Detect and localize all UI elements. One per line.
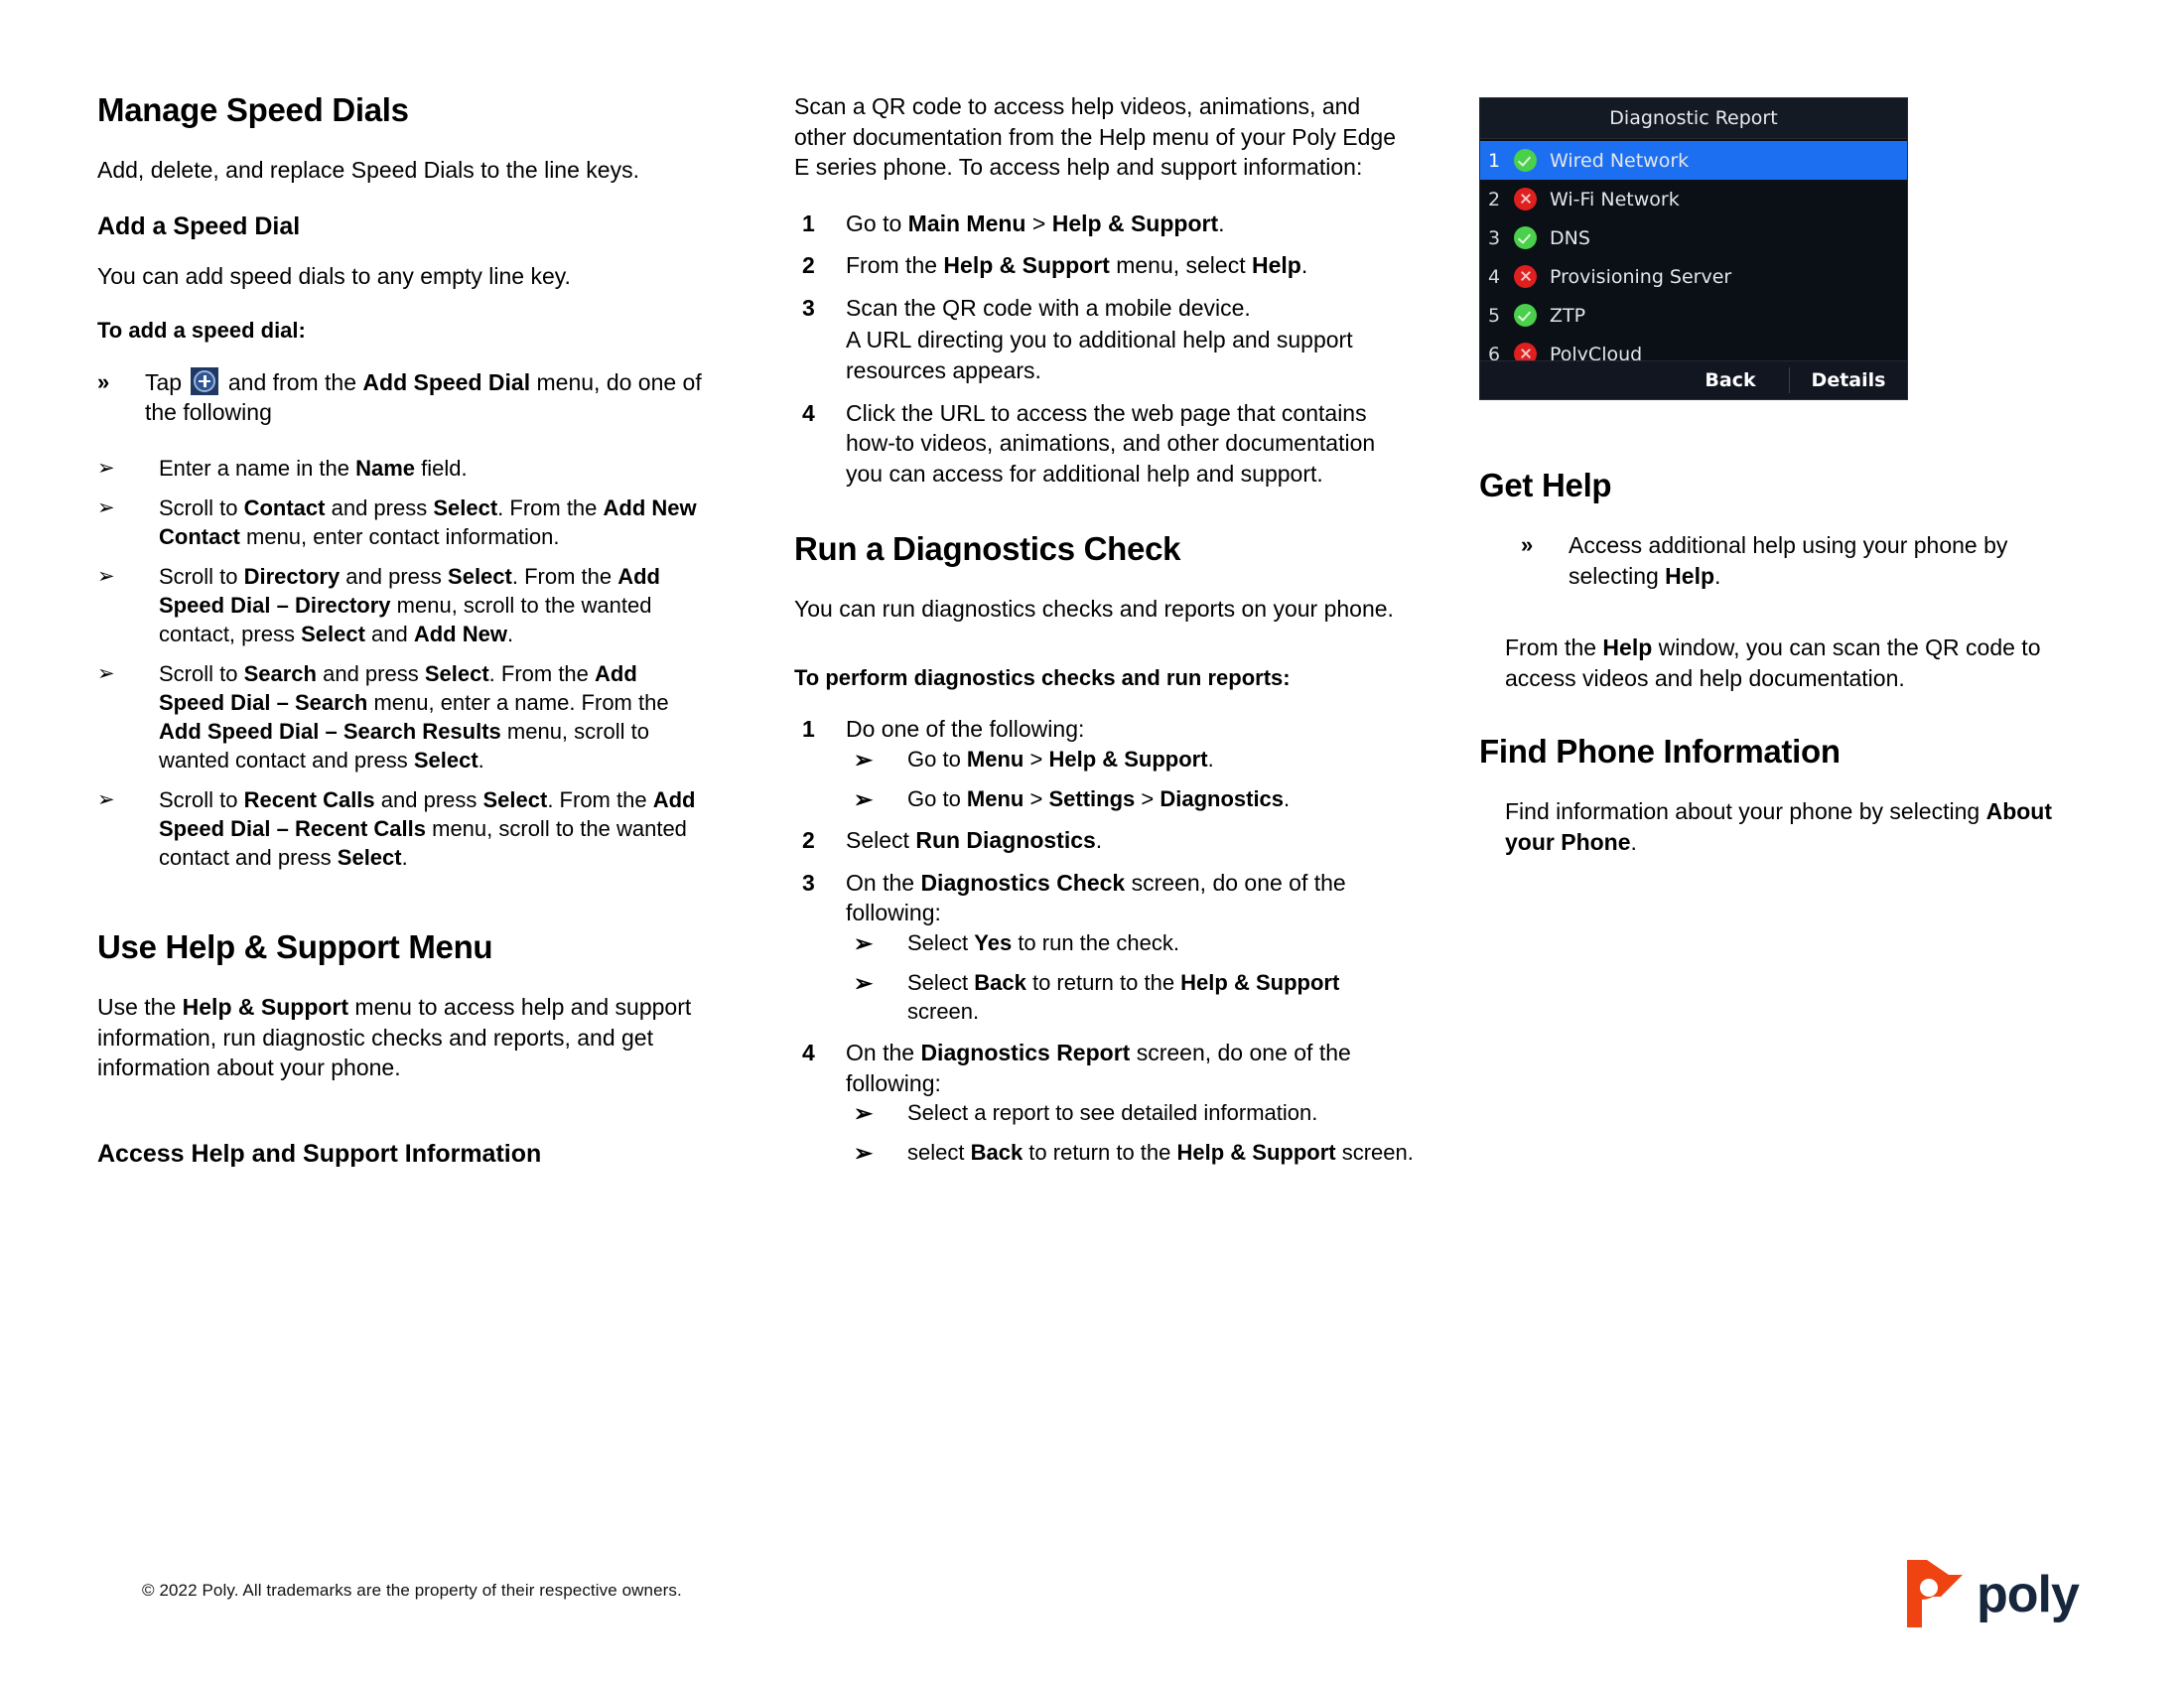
list-item-text: Select Back to return to the Help & Supp…: [907, 970, 1339, 1024]
softkey-details[interactable]: Details: [1790, 369, 1907, 391]
diagnostic-report-row[interactable]: 1Wired Network: [1480, 141, 1907, 180]
row-index: 1: [1488, 150, 1514, 172]
list-item: ➢Scroll to Directory and press Select. F…: [97, 562, 703, 648]
status-pass-icon: [1514, 304, 1537, 327]
list-item-text: Select Yes to run the check.: [907, 930, 1179, 955]
row-label: Wi-Fi Network: [1550, 189, 1680, 211]
column-one: Manage Speed Dials Add, delete, and repl…: [97, 91, 703, 1189]
add-speed-dial-options-list: ➢Enter a name in the Name field.➢Scroll …: [97, 454, 703, 872]
step-text: On the Diagnostics Check screen, do one …: [846, 870, 1346, 926]
arrow-bullet-icon: ➢: [854, 928, 873, 958]
step-number: 1: [802, 209, 815, 239]
list-item-text: Scroll to Recent Calls and press Select.…: [159, 787, 695, 870]
row-index: 2: [1488, 189, 1514, 211]
phone-softkey-bar: Back Details: [1480, 360, 1907, 399]
list-item: 1Go to Main Menu > Help & Support.: [794, 209, 1415, 239]
row-index: 4: [1488, 266, 1514, 288]
find-phone-information-heading: Find Phone Information: [1479, 733, 2100, 771]
svg-text:poly: poly: [1977, 1566, 2080, 1623]
arrow-bullet-icon: ➢: [97, 660, 115, 688]
list-item-text: Go to Menu > Help & Support.: [907, 747, 1214, 772]
diagnostic-report-row[interactable]: 3DNS: [1480, 218, 1907, 257]
tap-instruction-text: Tap and from the Add Speed Dial menu, do…: [145, 369, 702, 426]
list-item-text: select Back to return to the Help & Supp…: [907, 1140, 1414, 1165]
diagnostic-report-row[interactable]: 2Wi-Fi Network: [1480, 180, 1907, 218]
list-item-text: Scroll to Contact and press Select. From…: [159, 495, 697, 549]
row-label: DNS: [1550, 227, 1590, 249]
diagnostic-report-row[interactable]: 5ZTP: [1480, 296, 1907, 335]
list-item: ➢Select Yes to run the check.: [846, 928, 1415, 957]
step-number: 3: [802, 868, 815, 899]
list-item-text: Scroll to Directory and press Select. Fr…: [159, 564, 660, 646]
step-text: Go to Main Menu > Help & Support.: [846, 211, 1225, 236]
page-title: Manage Speed Dials: [97, 91, 703, 129]
qr-scan-intro: Scan a QR code to access help videos, an…: [794, 91, 1415, 183]
list-item: » Tap and from the Add Speed Dial menu, …: [97, 367, 703, 428]
arrow-bullet-icon: ➢: [854, 1098, 873, 1128]
list-item-text: Go to Menu > Settings > Diagnostics.: [907, 786, 1290, 811]
column-two: Scan a QR code to access help videos, an…: [794, 91, 1415, 1179]
step-number: 1: [802, 714, 815, 745]
step-number: 3: [802, 293, 815, 324]
list-item: 4Click the URL to access the web page th…: [794, 398, 1415, 490]
step-sublist: ➢Select a report to see detailed informa…: [846, 1098, 1415, 1167]
row-index: 3: [1488, 227, 1514, 249]
arrow-bullet-icon: ➢: [97, 786, 115, 814]
step-text: From the Help & Support menu, select Hel…: [846, 252, 1307, 278]
copyright-notice: © 2022 Poly. All trademarks are the prop…: [142, 1581, 682, 1601]
list-item: ➢select Back to return to the Help & Sup…: [846, 1138, 1415, 1167]
step-text: Select Run Diagnostics.: [846, 827, 1102, 853]
list-item: ➢Go to Menu > Settings > Diagnostics.: [846, 784, 1415, 813]
list-item: ➢Select a report to see detailed informa…: [846, 1098, 1415, 1127]
access-help-steps-list: 1Go to Main Menu > Help & Support.2From …: [794, 209, 1415, 490]
list-item: ➢Select Back to return to the Help & Sup…: [846, 968, 1415, 1026]
row-label: Provisioning Server: [1550, 266, 1731, 288]
status-fail-icon: [1514, 188, 1537, 211]
get-help-heading: Get Help: [1479, 467, 2100, 504]
diagnostics-intro: You can run diagnostics checks and repor…: [794, 594, 1415, 625]
arrow-bullet-icon: ➢: [854, 968, 873, 998]
page-canvas: Manage Speed Dials Add, delete, and repl…: [0, 0, 2184, 1688]
to-add-speed-dial-heading: To add a speed dial:: [97, 317, 703, 346]
status-fail-icon: [1514, 265, 1537, 288]
diagnostic-report-row[interactable]: 4Provisioning Server: [1480, 257, 1907, 296]
step-sublist: ➢Select Yes to run the check.➢Select Bac…: [846, 928, 1415, 1026]
row-label: Wired Network: [1550, 150, 1689, 172]
arrow-bullet-icon: ➢: [97, 455, 115, 483]
use-help-support-menu-heading: Use Help & Support Menu: [97, 928, 703, 966]
list-item: ➢Scroll to Contact and press Select. Fro…: [97, 493, 703, 551]
arrow-bullet-icon: ➢: [97, 563, 115, 591]
softkey-back[interactable]: Back: [1672, 369, 1789, 391]
list-item: ➢Scroll to Search and press Select. From…: [97, 659, 703, 774]
add-speed-dial-heading: Add a Speed Dial: [97, 211, 703, 241]
arrow-bullet-icon: ➢: [854, 784, 873, 814]
get-help-bullet-text: Access additional help using your phone …: [1569, 532, 2007, 589]
get-help-body: From the Help window, you can scan the Q…: [1505, 633, 2100, 693]
step-text: Scan the QR code with a mobile device.: [846, 295, 1251, 321]
list-item: » Access additional help using your phon…: [1521, 530, 2100, 591]
step-number: 4: [802, 1038, 815, 1068]
list-item: 3Scan the QR code with a mobile device.A…: [794, 293, 1415, 386]
step-continuation: A URL directing you to additional help a…: [846, 325, 1415, 385]
row-label: ZTP: [1550, 305, 1585, 327]
list-item: 2 Select Run Diagnostics.: [794, 825, 1415, 856]
list-item: ➢Enter a name in the Name field.: [97, 454, 703, 483]
diagnostics-steps-list: 1Do one of the following:➢Go to Menu > H…: [794, 714, 1415, 1167]
column-three: Get Help » Access additional help using …: [1479, 467, 2100, 883]
status-pass-icon: [1514, 149, 1537, 172]
get-help-bullet-list: » Access additional help using your phon…: [1521, 530, 2100, 591]
list-item-text: Scroll to Search and press Select. From …: [159, 661, 669, 773]
list-item: 2From the Help & Support menu, select He…: [794, 250, 1415, 281]
add-speed-dial-intro: You can add speed dials to any empty lin…: [97, 261, 703, 292]
arrow-bullet-icon: ➢: [97, 494, 115, 522]
poly-logo-mark: [1907, 1560, 1963, 1627]
run-diagnostics-check-heading: Run a Diagnostics Check: [794, 530, 1415, 568]
list-item-text: Enter a name in the Name field.: [159, 456, 468, 481]
chevron-bullet-icon: »: [97, 367, 109, 396]
step-number: 4: [802, 398, 815, 429]
list-item: 3On the Diagnostics Check screen, do one…: [794, 868, 1415, 1026]
list-item: ➢Scroll to Recent Calls and press Select…: [97, 785, 703, 872]
access-help-support-heading: Access Help and Support Information: [97, 1139, 703, 1169]
arrow-bullet-icon: ➢: [854, 745, 873, 774]
arrow-bullet-icon: ➢: [854, 1138, 873, 1168]
step-text: On the Diagnostics Report screen, do one…: [846, 1040, 1351, 1096]
list-item: 4On the Diagnostics Report screen, do on…: [794, 1038, 1415, 1167]
add-plus-icon[interactable]: [191, 367, 218, 395]
tap-add-bullet-list: » Tap and from the Add Speed Dial menu, …: [97, 367, 703, 428]
use-help-support-menu-body: Use the Help & Support menu to access he…: [97, 992, 703, 1083]
step-text: Do one of the following:: [846, 716, 1084, 742]
list-item-text: Select a report to see detailed informat…: [907, 1100, 1317, 1125]
list-item: ➢Go to Menu > Help & Support.: [846, 745, 1415, 774]
phone-screen-title: Diagnostic Report: [1480, 98, 1907, 139]
row-index: 5: [1488, 305, 1514, 327]
manage-speed-dials-intro: Add, delete, and replace Speed Dials to …: [97, 155, 703, 186]
step-text: Click the URL to access the web page tha…: [846, 400, 1375, 487]
find-phone-information-body: Find information about your phone by sel…: [1505, 796, 2100, 857]
step-number: 2: [802, 825, 815, 856]
list-item: 1Do one of the following:➢Go to Menu > H…: [794, 714, 1415, 813]
step-sublist: ➢Go to Menu > Help & Support.➢Go to Menu…: [846, 745, 1415, 813]
poly-logo-wordmark: poly: [1977, 1566, 2080, 1623]
poly-logo: poly: [1901, 1554, 2105, 1633]
diagnostics-procedure-heading: To perform diagnostics checks and run re…: [794, 664, 1415, 693]
status-pass-icon: [1514, 226, 1537, 249]
diagnostic-report-screenshot: Diagnostic Report 1Wired Network2Wi-Fi N…: [1479, 97, 1908, 400]
step-number: 2: [802, 250, 815, 281]
diagnostic-report-row-list: 1Wired Network2Wi-Fi Network3DNS4Provisi…: [1480, 139, 1907, 373]
chevron-bullet-icon: »: [1521, 530, 1533, 559]
